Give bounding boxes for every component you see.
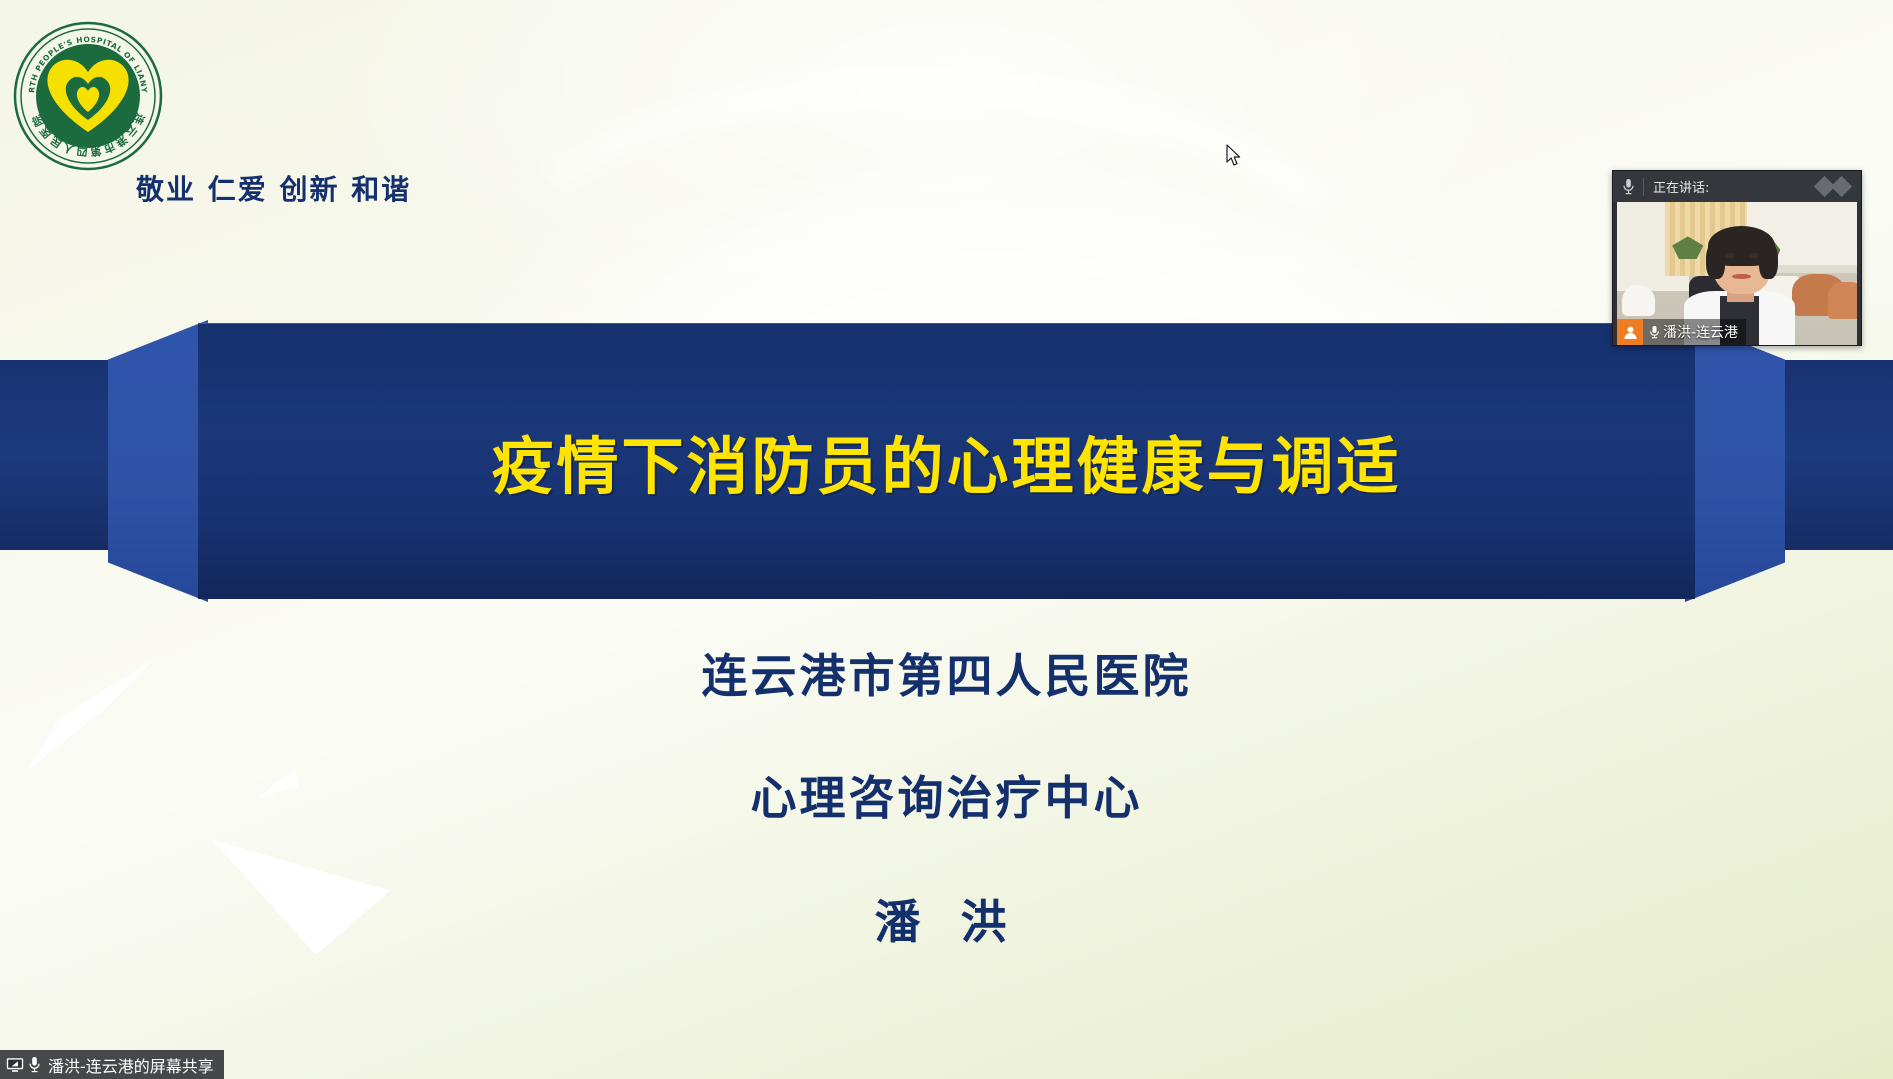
video-panel-header: 正在讲话: <box>1613 171 1861 202</box>
organization-line-2: 心理咨询治疗中心 <box>0 762 1893 828</box>
chevron-decoration-icon <box>1817 175 1849 194</box>
hospital-logo: THE FOURTH PEOPLE'S HOSPITAL OF LIANYUNG… <box>12 20 164 172</box>
screen-share-text: 潘洪-连云港的屏幕共享 <box>48 1053 214 1077</box>
organization-line-1: 连云港市第四人民医院 <box>0 640 1893 706</box>
participant-name-text: 潘洪-连云港 <box>1663 322 1738 342</box>
slide-title: 疫情下消防员的心理健康与调适 <box>198 323 1695 599</box>
ribbon-fold-left <box>108 320 208 602</box>
slide-subtitle-block: 连云港市第四人民医院 心理咨询治疗中心 潘 洪 <box>0 640 1893 952</box>
video-hair-right <box>1759 242 1778 279</box>
microphone-icon <box>1613 178 1643 195</box>
speaking-status-label: 正在讲话: <box>1653 177 1709 196</box>
video-chair-two <box>1828 282 1857 319</box>
screen-share-stage: THE FOURTH PEOPLE'S HOSPITAL OF LIANYUNG… <box>0 0 1893 1079</box>
hospital-motto: 敬业 仁爱 创新 和谐 <box>136 168 411 208</box>
participant-video-panel[interactable]: 正在讲话: <box>1612 170 1862 346</box>
microphone-small-icon <box>28 1056 41 1073</box>
title-ribbon: 疫情下消防员的心理健康与调适 <box>0 320 1893 602</box>
ribbon-tab-left <box>0 360 122 550</box>
video-eye-left <box>1725 253 1735 257</box>
video-hair-left <box>1706 242 1725 279</box>
screen-share-status-bar: 潘洪-连云港的屏幕共享 <box>0 1050 224 1079</box>
video-basin <box>1622 285 1656 316</box>
participant-name-badge: 潘洪-连云港 <box>1617 319 1746 345</box>
ribbon-fold-right <box>1685 320 1785 602</box>
monitor-share-icon <box>6 1057 24 1073</box>
video-feed[interactable]: 潘洪-连云港 <box>1617 202 1857 345</box>
presenter-name: 潘 洪 <box>0 886 1893 952</box>
microphone-small-icon <box>1649 325 1660 339</box>
person-avatar-icon <box>1617 319 1643 345</box>
ribbon-tab-right <box>1771 360 1893 550</box>
header-divider <box>1643 178 1644 196</box>
mouse-pointer-icon <box>1226 144 1242 168</box>
video-eye-right <box>1749 253 1759 257</box>
